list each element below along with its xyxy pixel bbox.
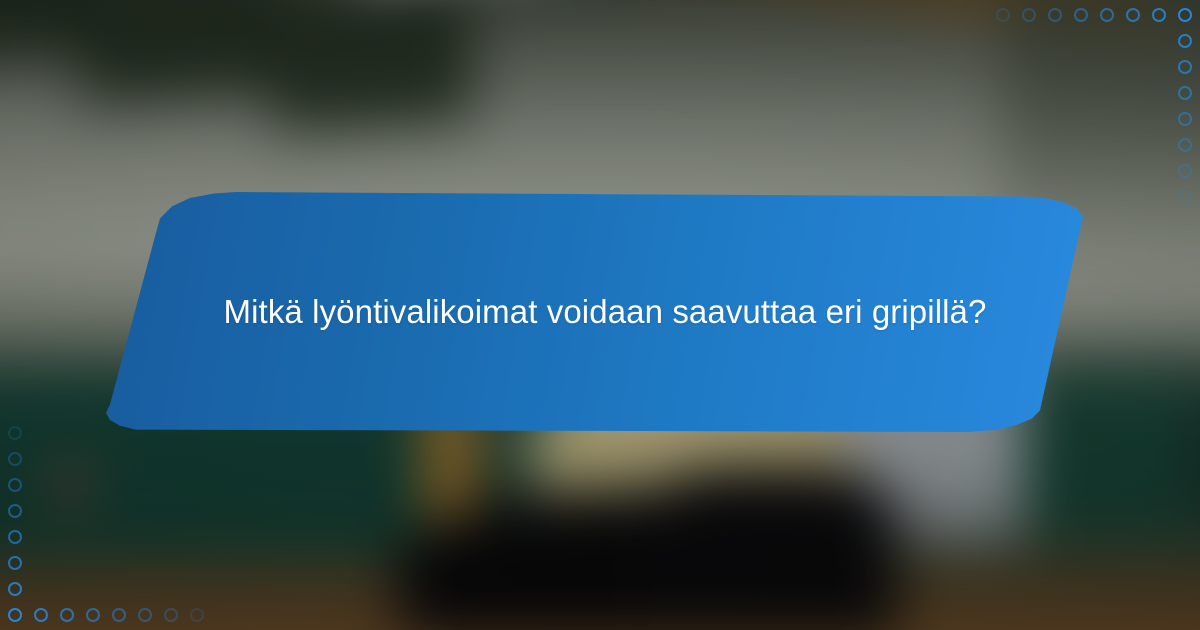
- question-card-text-area: Mitkä lyöntivalikoimat voidaan saavuttaa…: [100, 192, 1100, 432]
- decor-dot: [1100, 8, 1114, 22]
- decor-dot: [1178, 60, 1192, 74]
- decor-dot: [1178, 190, 1192, 204]
- decor-dot: [34, 608, 48, 622]
- decor-dot: [8, 582, 22, 596]
- decor-dot: [1126, 8, 1140, 22]
- decor-dot: [1178, 112, 1192, 126]
- question-card: Mitkä lyöntivalikoimat voidaan saavuttaa…: [100, 192, 1100, 432]
- decor-dot: [138, 608, 152, 622]
- decor-dot: [1178, 34, 1192, 48]
- decor-dot: [8, 478, 22, 492]
- question-text: Mitkä lyöntivalikoimat voidaan saavuttaa…: [224, 286, 987, 338]
- decor-dots-top-right: [1000, 0, 1200, 200]
- decor-dot: [1152, 8, 1166, 22]
- decor-dot: [996, 8, 1010, 22]
- decor-dots-bottom-left: [0, 430, 200, 630]
- decor-dot: [1074, 8, 1088, 22]
- share-image-canvas: Mitkä lyöntivalikoimat voidaan saavuttaa…: [0, 0, 1200, 630]
- decor-dot: [164, 608, 178, 622]
- decor-dot: [1022, 8, 1036, 22]
- decor-dot: [1178, 138, 1192, 152]
- decor-dot: [1178, 164, 1192, 178]
- decor-dot: [1178, 8, 1192, 22]
- decor-dot: [8, 530, 22, 544]
- decor-dot: [1178, 86, 1192, 100]
- decor-dot: [112, 608, 126, 622]
- decor-dot: [8, 608, 22, 622]
- decor-dot: [86, 608, 100, 622]
- decor-dot: [190, 608, 204, 622]
- decor-dot: [8, 504, 22, 518]
- decor-dot: [8, 426, 22, 440]
- decor-dot: [60, 608, 74, 622]
- decor-dot: [8, 556, 22, 570]
- decor-dot: [8, 452, 22, 466]
- decor-dot: [1048, 8, 1062, 22]
